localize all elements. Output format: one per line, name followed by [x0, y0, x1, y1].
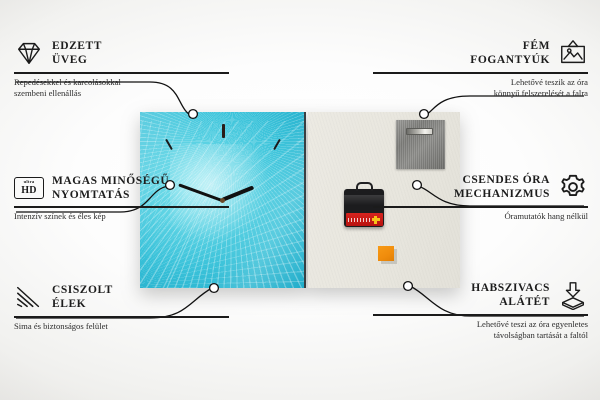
callout-foam-pad: HABSZIVACS ALÁTÉT Lehetővé teszi az óra …	[373, 280, 588, 341]
ultra-hd-icon: ultra HD	[14, 177, 44, 199]
callout-divider	[14, 206, 229, 208]
callout-title: EDZETT ÜVEG	[52, 39, 102, 67]
callout-silent-mechanism: CSENDES ÓRA MECHANIZMUS Óramutatók hang …	[373, 172, 588, 222]
polished-edge-icon	[14, 282, 44, 312]
metal-hanger-plate	[396, 120, 445, 169]
callout-title: CSENDES ÓRA MECHANIZMUS	[454, 173, 550, 201]
callout-metal-handles: FÉM FOGANTYÚK Lehetővé teszik az óra kön…	[373, 38, 588, 99]
callout-tempered-glass: EDZETT ÜVEG Repedésekkel és karcolásokka…	[14, 38, 229, 99]
callout-title: MAGAS MINŐSÉGŰ NYOMTATÁS	[52, 174, 169, 202]
hanger-slot	[406, 128, 433, 135]
callout-subtitle: Intenzív színek és éles kép	[14, 211, 229, 222]
ultra-hd-icon-large-text: HD	[21, 186, 37, 196]
callout-title: HABSZIVACS ALÁTÉT	[471, 281, 550, 309]
callout-subtitle: Óramutatók hang nélkül	[373, 211, 588, 222]
callout-subtitle: Lehetővé teszi az óra egyenletes távolsá…	[373, 319, 588, 342]
mechanism-hanging-loop	[356, 182, 373, 191]
callout-divider	[373, 314, 588, 316]
gear-icon	[558, 172, 588, 202]
diamond-icon	[14, 38, 44, 68]
orange-foam-pad	[378, 246, 394, 261]
callout-hd-print: ultra HD MAGAS MINŐSÉGŰ NYOMTATÁS Intenz…	[14, 174, 229, 222]
callout-title: FÉM FOGANTYÚK	[470, 39, 550, 67]
callout-divider	[373, 206, 588, 208]
callout-divider	[373, 72, 588, 74]
callout-divider	[14, 72, 229, 74]
infographic-canvas: EDZETT ÜVEG Repedésekkel és karcolásokka…	[0, 0, 600, 400]
callout-divider	[14, 316, 229, 318]
callout-subtitle: Sima és biztonságos felület	[14, 321, 229, 332]
foam-cushion-icon	[558, 280, 588, 310]
callout-subtitle: Lehetővé teszik az óra könnyű felszerelé…	[373, 77, 588, 100]
callout-polished-edges: CSISZOLT ÉLEK Sima és biztonságos felüle…	[14, 282, 229, 332]
callout-subtitle: Repedésekkel és karcolásokkal szembeni e…	[14, 77, 229, 100]
hanging-frame-icon	[558, 38, 588, 68]
label-barcode	[348, 218, 371, 222]
callout-title: CSISZOLT ÉLEK	[52, 283, 113, 311]
